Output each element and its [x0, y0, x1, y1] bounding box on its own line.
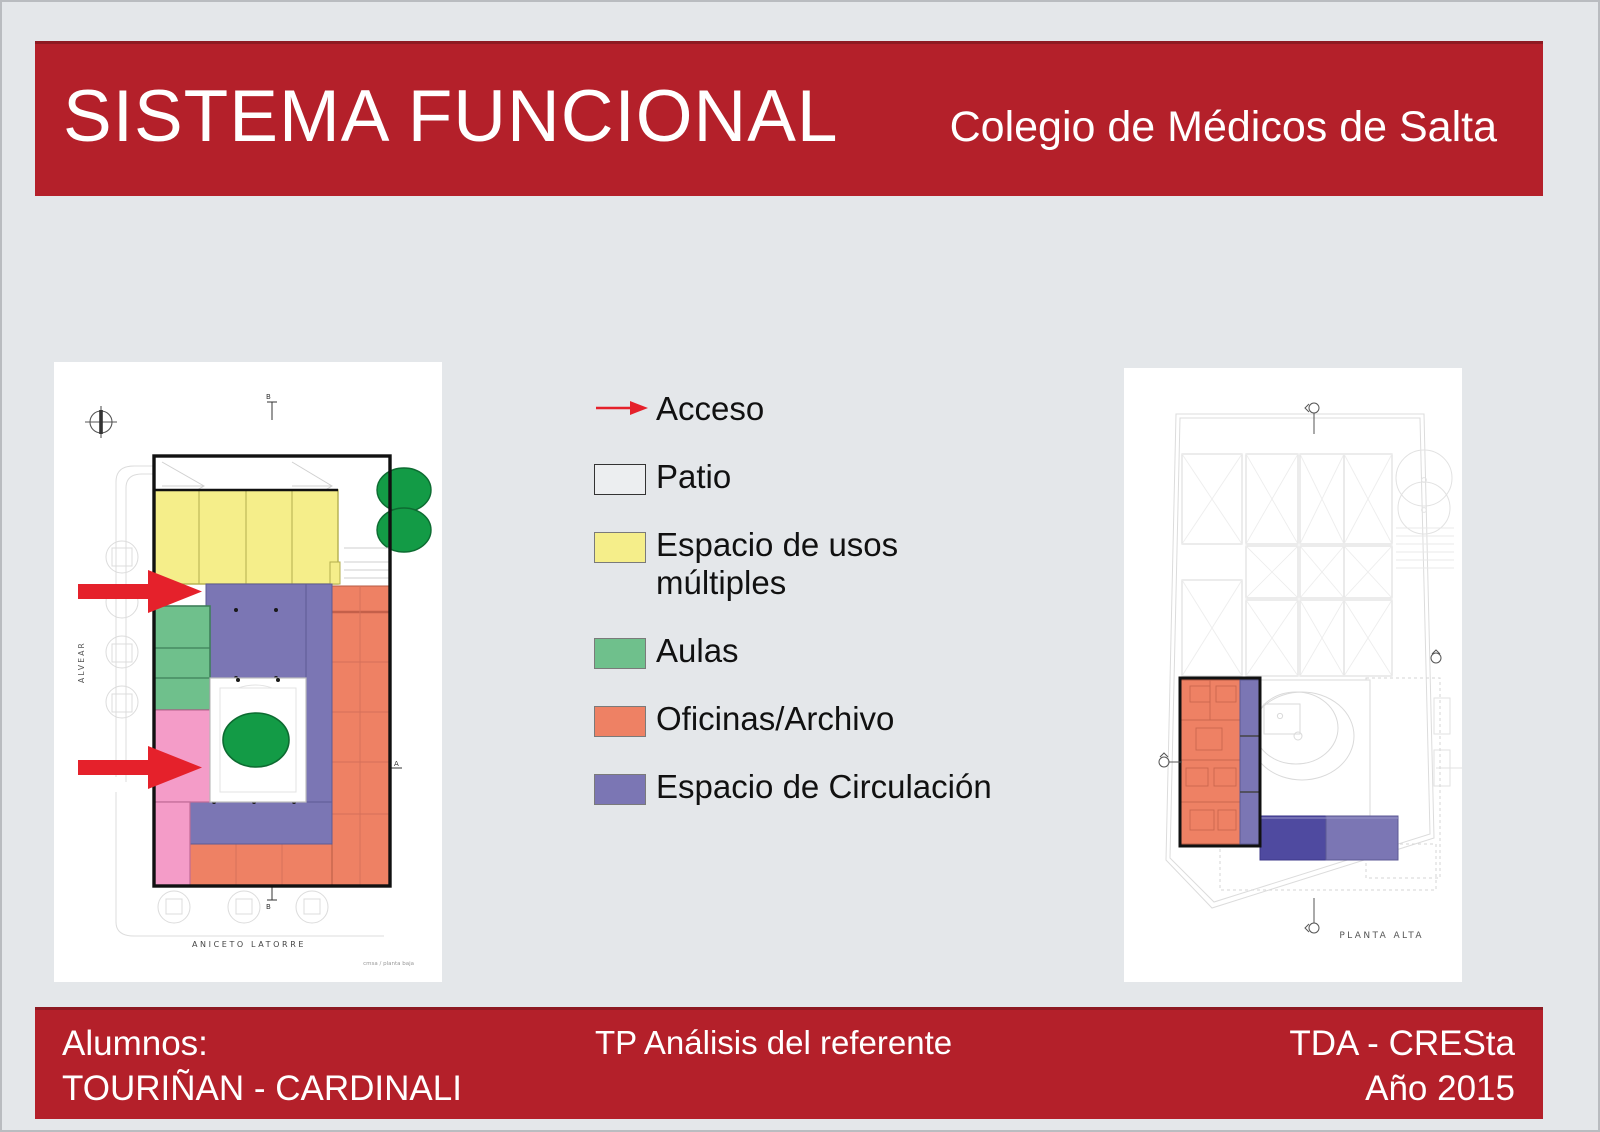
legend-swatch-oficinas-archivo: [594, 706, 646, 737]
zone-oficinas-right: [332, 586, 390, 886]
footer-students: Alumnos: TOURIÑAN - CARDINALI: [62, 1022, 462, 1112]
legend-label-usos-multiples: Espacio de usos múltiples: [656, 526, 986, 602]
legend-label-aulas: Aulas: [656, 632, 739, 670]
legend-item-acceso[interactable]: Acceso: [594, 390, 1064, 428]
footer-course: TDA - CRESta Año 2015: [1289, 1022, 1515, 1112]
plan-caption: cmsa / planta baja: [363, 961, 414, 967]
zone-patio: [210, 678, 306, 802]
zone-circulacion-upper-vertical: [1240, 680, 1260, 844]
legend-swatch-cell: [594, 632, 656, 669]
footer-band: Alumnos: TOURIÑAN - CARDINALI TP Análisi…: [35, 1007, 1543, 1119]
floor-plan-upper-drawing: PLANTA ALTA: [1124, 368, 1462, 982]
header-band: SISTEMA FUNCIONAL Colegio de Médicos de …: [35, 41, 1543, 196]
footer-students-names: TOURIÑAN - CARDINALI: [62, 1067, 462, 1112]
legend-swatch-cell: [594, 526, 656, 563]
legend-swatch-cell: [594, 700, 656, 737]
zone-circulacion-upper-bottom: [1260, 816, 1398, 860]
zone-aulas: [154, 606, 210, 710]
north-point-icon: [85, 406, 117, 438]
patio-tree-ellipse: [223, 713, 289, 767]
legend-swatch-usos-multiples: [594, 532, 646, 563]
legend-label-patio: Patio: [656, 458, 731, 496]
svg-text:B: B: [266, 393, 271, 401]
legend-item-aulas[interactable]: Aulas: [594, 632, 1064, 670]
street-label-alvear: ALVEAR: [77, 641, 86, 683]
footer-course-code: TDA - CRESta: [1289, 1022, 1515, 1067]
slide-canvas: SISTEMA FUNCIONAL Colegio de Médicos de …: [0, 0, 1600, 1132]
floor-plan-ground-drawing: B B A A: [54, 362, 442, 982]
access-arrow-icon: [594, 396, 650, 420]
floor-plan-upper[interactable]: PLANTA ALTA: [1124, 368, 1462, 982]
footer-year: Año 2015: [1289, 1067, 1515, 1112]
legend-item-patio[interactable]: Patio: [594, 458, 1064, 496]
legend-swatch-circulacion: [594, 774, 646, 805]
legend-item-usos-multiples[interactable]: Espacio de usos múltiples: [594, 526, 1064, 602]
legend-swatch-patio: [594, 464, 646, 495]
svg-text:B: B: [266, 903, 271, 911]
legend-item-circulacion[interactable]: Espacio de Circulación: [594, 768, 1064, 806]
svg-text:A: A: [394, 760, 399, 768]
footer-students-label: Alumnos:: [62, 1022, 462, 1067]
legend-label-circulacion: Espacio de Circulación: [656, 768, 992, 806]
legend-label-oficinas-archivo: Oficinas/Archivo: [656, 700, 894, 738]
legend-swatch-cell: [594, 458, 656, 495]
legend-label-acceso: Acceso: [656, 390, 764, 428]
floor-plan-ground[interactable]: B B A A: [54, 362, 442, 982]
legend-swatch-aulas: [594, 638, 646, 669]
zone-oficinas-upper: [1180, 680, 1240, 844]
header-subtitle: Colegio de Médicos de Salta: [950, 106, 1497, 149]
page-title: SISTEMA FUNCIONAL: [63, 80, 839, 153]
legend-swatch-cell: [594, 768, 656, 805]
street-label-aniceto-latorre: ANICETO LATORRE: [192, 940, 306, 949]
legend-swatch-cell: [594, 390, 656, 420]
footer-assignment: TP Análisis del referente: [595, 1022, 952, 1064]
legend: Acceso Patio Espacio de usos múltiples A…: [594, 390, 1064, 806]
zone-usos-multiples: [154, 490, 340, 584]
zone-patio-upper: [1250, 680, 1370, 816]
zone-oficinas-bottom: [190, 840, 332, 886]
legend-item-oficinas-archivo[interactable]: Oficinas/Archivo: [594, 700, 1064, 738]
plan-upper-caption: PLANTA ALTA: [1339, 931, 1424, 941]
